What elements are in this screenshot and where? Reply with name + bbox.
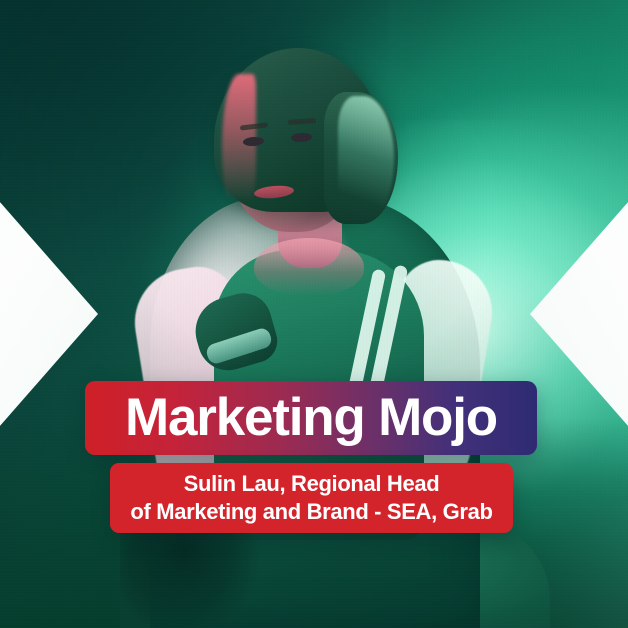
page-title: Marketing Mojo: [125, 391, 497, 444]
title-banner: Marketing Mojo: [85, 381, 537, 455]
subtitle-line-2: of Marketing and Brand - SEA, Grab: [130, 498, 492, 526]
subtitle-line-1: Sulin Lau, Regional Head: [184, 470, 440, 498]
episode-cover-poster: Marketing Mojo Sulin Lau, Regional Head …: [0, 0, 628, 628]
subtitle-banner: Sulin Lau, Regional Head of Marketing an…: [110, 463, 513, 533]
